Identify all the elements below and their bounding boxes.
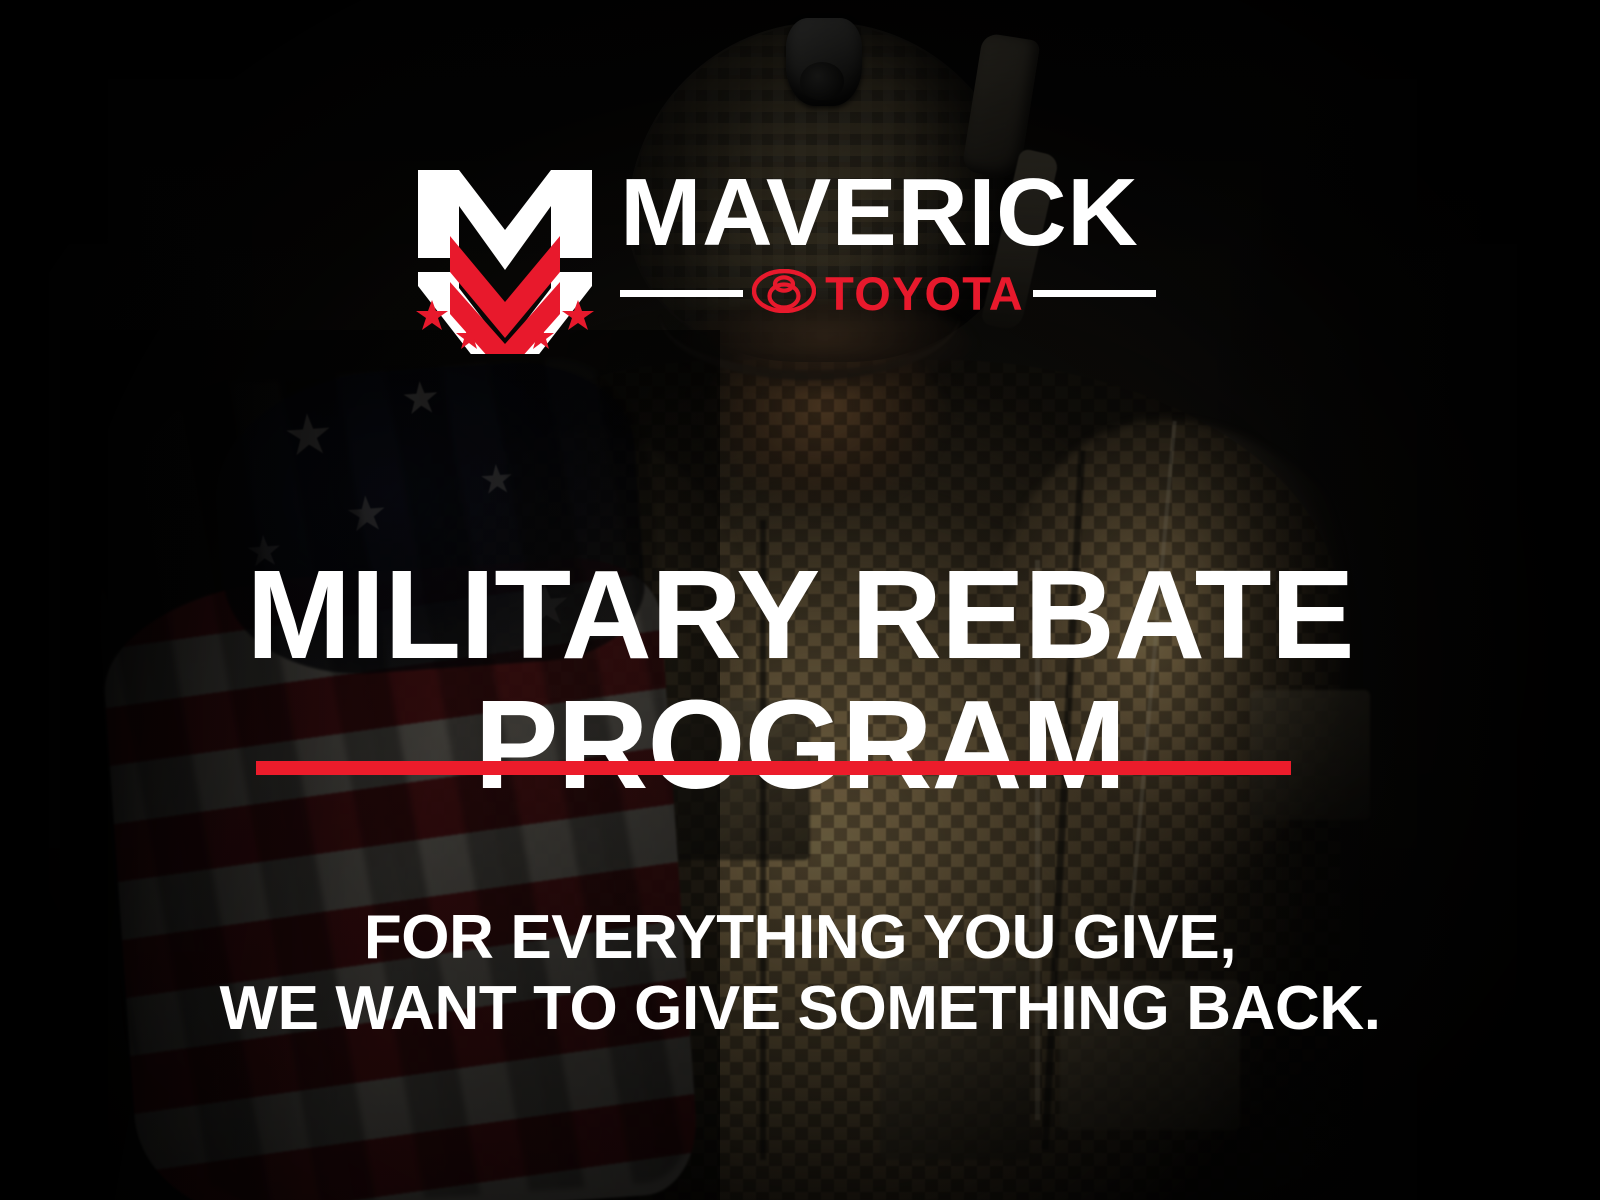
promo-banner: ★ ★ ★ ★ ★ ★ ★ bbox=[0, 0, 1600, 1200]
banner-content: MAVERICK TOYOTA MILITARY REB bbox=[0, 0, 1600, 1200]
brand-logo-lockup[interactable]: MAVERICK TOYOTA bbox=[412, 162, 1157, 357]
lockup-rule-right bbox=[1033, 290, 1156, 297]
headline-line-2: PROGRAM bbox=[0, 680, 1600, 810]
headline-line-1: MILITARY REBATE bbox=[246, 544, 1353, 685]
red-divider bbox=[256, 761, 1291, 775]
lockup-rule-left bbox=[620, 290, 743, 297]
brand-wordmark-column: MAVERICK TOYOTA bbox=[620, 162, 1156, 318]
tagline-line-1: FOR EVERYTHING YOU GIVE, bbox=[364, 903, 1236, 972]
tagline-line-2: WE WANT TO GIVE SOMETHING BACK. bbox=[0, 974, 1600, 1045]
military-chevron-emblem-icon bbox=[412, 162, 598, 354]
toyota-wordmark: TOYOTA bbox=[825, 270, 1024, 317]
maverick-wordmark: MAVERICK bbox=[620, 174, 1167, 253]
tagline: FOR EVERYTHING YOU GIVE, WE WANT TO GIVE… bbox=[0, 903, 1600, 1044]
toyota-sub-lockup: TOYOTA bbox=[620, 269, 1156, 318]
toyota-ellipse-logo-icon bbox=[752, 269, 816, 318]
